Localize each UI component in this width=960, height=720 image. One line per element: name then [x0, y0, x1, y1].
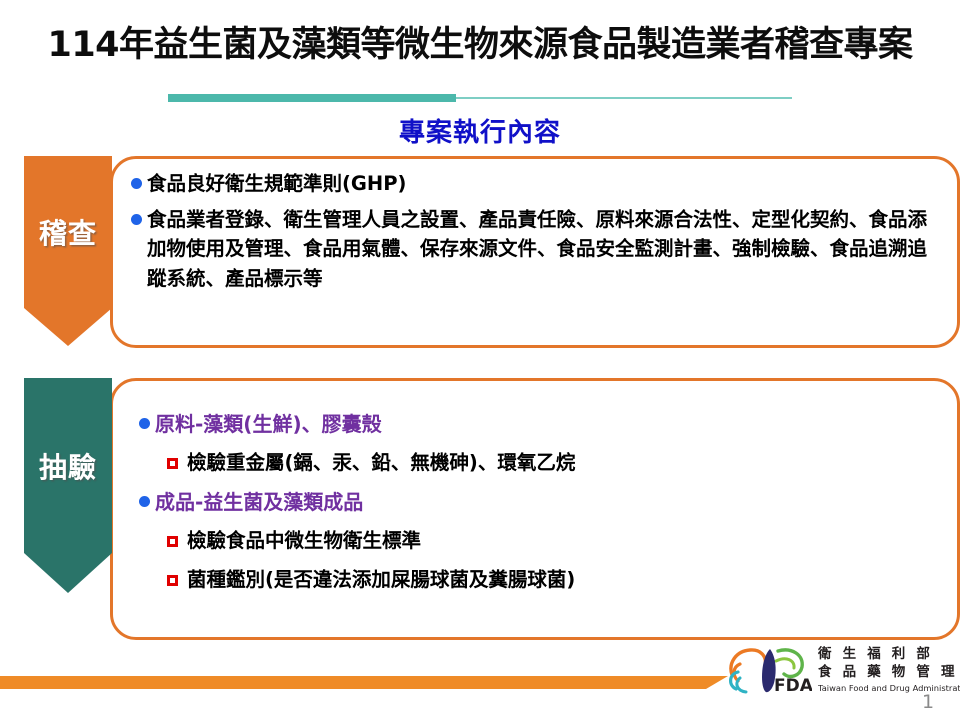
banner-audit: 稽查 — [24, 156, 112, 308]
list-item: 檢驗食品中微生物衛生標準 — [167, 526, 941, 556]
list-item-label: 檢驗食品中微生物衛生標準 — [187, 526, 941, 556]
section-audit-content: 食品良好衛生規範準則(GHP) 食品業者登錄、衛生管理人員之設置、產品責任險、原… — [131, 169, 941, 294]
list-item-label: 食品業者登錄、衛生管理人員之設置、產品責任險、原料來源合法性、定型化契約、食品添… — [147, 205, 941, 294]
section-sampling: 原料-藻類(生鮮)、膠囊殼 檢驗重金屬(鎘、汞、鉛、無機砷)、環氧乙烷 成品-益… — [0, 378, 960, 638]
subtitle: 專案執行內容 — [0, 112, 960, 149]
banner-sampling-label: 抽驗 — [39, 446, 97, 486]
blue-dot-icon — [139, 496, 150, 507]
list-item: 原料-藻類(生鮮)、膠囊殼 — [139, 409, 941, 439]
list-item: 菌種鑑別(是否違法添加屎腸球菌及糞腸球菌) — [167, 565, 941, 595]
banner-sampling: 抽驗 — [24, 378, 112, 553]
red-square-icon — [167, 536, 178, 547]
list-item: 食品良好衛生規範準則(GHP) — [131, 169, 941, 199]
list-item: 成品-益生菌及藻類成品 — [139, 487, 941, 517]
blue-dot-icon — [131, 178, 142, 189]
page-number: 1 — [910, 691, 946, 713]
list-item: 食品業者登錄、衛生管理人員之設置、產品責任險、原料來源合法性、定型化契約、食品添… — [131, 205, 941, 294]
section-audit: 食品良好衛生規範準則(GHP) 食品業者登錄、衛生管理人員之設置、產品責任險、原… — [0, 156, 960, 366]
fda-logo: FDA 衛 生 福 利 部 食 品 藥 物 管 理 署 Taiwan Food … — [726, 645, 946, 697]
list-item-label: 成品-益生菌及藻類成品 — [155, 487, 941, 517]
section-sampling-box: 原料-藻類(生鮮)、膠囊殼 檢驗重金屬(鎘、汞、鉛、無機砷)、環氧乙烷 成品-益… — [110, 378, 960, 640]
list-item: 檢驗重金屬(鎘、汞、鉛、無機砷)、環氧乙烷 — [167, 448, 941, 478]
fda-butterfly-logo-icon: FDA — [726, 645, 812, 695]
list-item-label: 食品良好衛生規範準則(GHP) — [147, 169, 941, 199]
footer-accent-bar-tip — [706, 676, 728, 689]
blue-dot-icon — [139, 418, 150, 429]
fda-wordmark: FDA — [774, 676, 812, 695]
banner-audit-label: 稽查 — [39, 212, 97, 252]
slide-canvas: 114年益生菌及藻類等微生物來源食品製造業者稽查專案 專案執行內容 食品良好衛生… — [0, 0, 960, 720]
section-audit-box: 食品良好衛生規範準則(GHP) 食品業者登錄、衛生管理人員之設置、產品責任險、原… — [110, 156, 960, 348]
list-item-label: 菌種鑑別(是否違法添加屎腸球菌及糞腸球菌) — [187, 565, 941, 595]
red-square-icon — [167, 458, 178, 469]
page-title: 114年益生菌及藻類等微生物來源食品製造業者稽查專案 — [0, 26, 960, 65]
title-divider-accent — [168, 94, 456, 102]
fda-agency-line2: 食 品 藥 物 管 理 署 — [818, 664, 948, 682]
blue-dot-icon — [131, 214, 142, 225]
list-item-label: 檢驗重金屬(鎘、汞、鉛、無機砷)、環氧乙烷 — [187, 448, 941, 478]
fda-agency-text: 衛 生 福 利 部 食 品 藥 物 管 理 署 Taiwan Food and … — [818, 646, 948, 693]
banner-audit-tip — [24, 308, 112, 346]
banner-sampling-tip — [24, 553, 112, 593]
section-sampling-content: 原料-藻類(生鮮)、膠囊殼 檢驗重金屬(鎘、汞、鉛、無機砷)、環氧乙烷 成品-益… — [139, 409, 941, 604]
list-item-label: 原料-藻類(生鮮)、膠囊殼 — [155, 409, 941, 439]
fda-agency-line1: 衛 生 福 利 部 — [818, 646, 948, 664]
footer-accent-bar — [0, 676, 706, 689]
red-square-icon — [167, 575, 178, 586]
